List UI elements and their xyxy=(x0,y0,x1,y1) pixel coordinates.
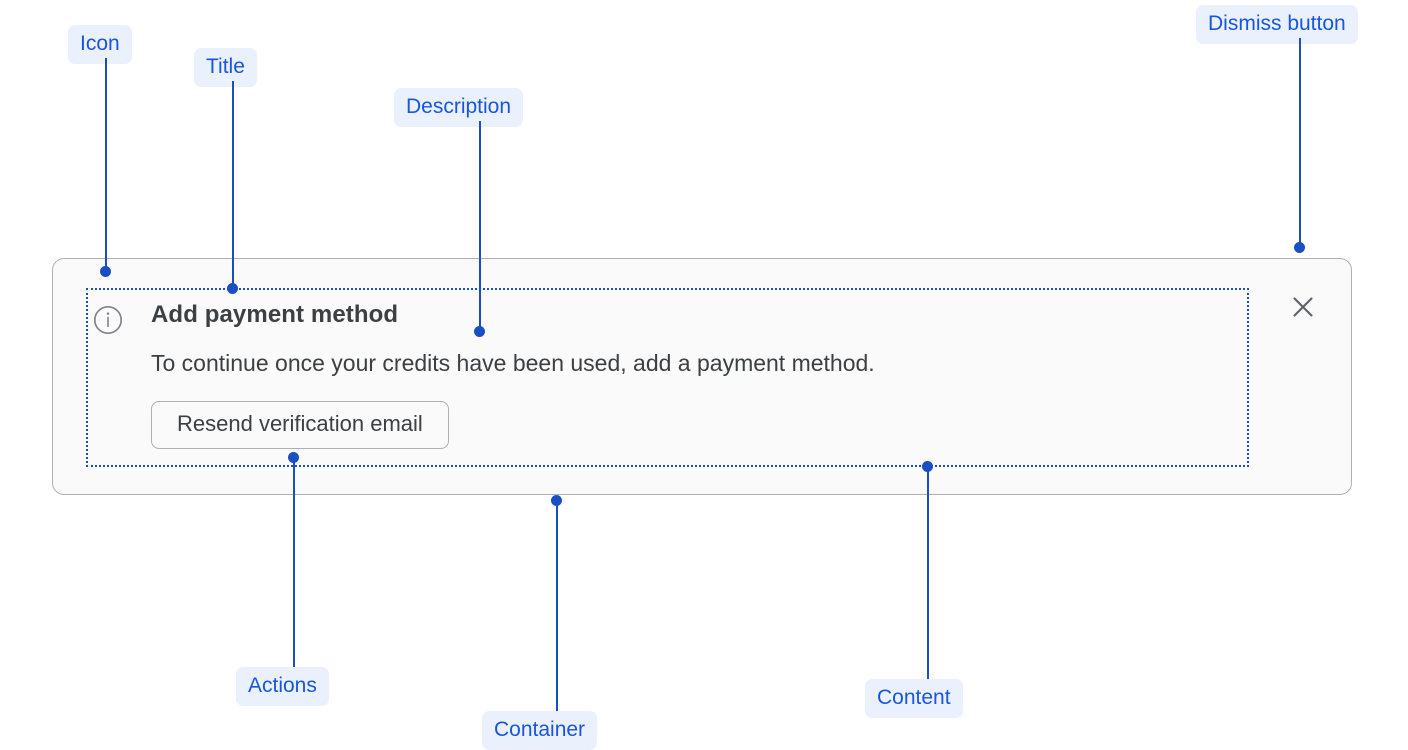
annotation-leader-container xyxy=(556,505,558,711)
info-circle-icon xyxy=(93,305,123,335)
annotation-label-description: Description xyxy=(394,88,523,127)
annotation-leader-dismiss-button xyxy=(1299,38,1301,247)
alert-container: Add payment method To continue once your… xyxy=(52,258,1352,495)
alert-content-region: Add payment method To continue once your… xyxy=(86,288,1249,467)
annotation-label-container: Container xyxy=(482,711,597,750)
annotation-label-icon: Icon xyxy=(68,25,132,64)
annotation-leader-title xyxy=(232,81,234,288)
annotation-label-content: Content xyxy=(865,679,963,718)
annotation-label-title: Title xyxy=(194,48,257,87)
alert-body: Add payment method To continue once your… xyxy=(123,290,1247,449)
alert-actions: Resend verification email xyxy=(151,401,1247,449)
annotation-leader-icon xyxy=(105,58,107,271)
annotation-leader-content xyxy=(927,471,929,679)
close-icon xyxy=(1290,294,1316,320)
annotation-label-dismiss-button: Dismiss button xyxy=(1196,5,1358,44)
alert-description: To continue once your credits have been … xyxy=(151,347,1247,379)
annotation-dot-container xyxy=(551,495,562,506)
annotation-label-actions: Actions xyxy=(236,667,329,706)
annotation-dot-dismiss-button xyxy=(1294,242,1305,253)
resend-verification-email-button[interactable]: Resend verification email xyxy=(151,401,449,449)
dismiss-button[interactable] xyxy=(1283,287,1323,327)
alert-title: Add payment method xyxy=(151,298,1247,332)
